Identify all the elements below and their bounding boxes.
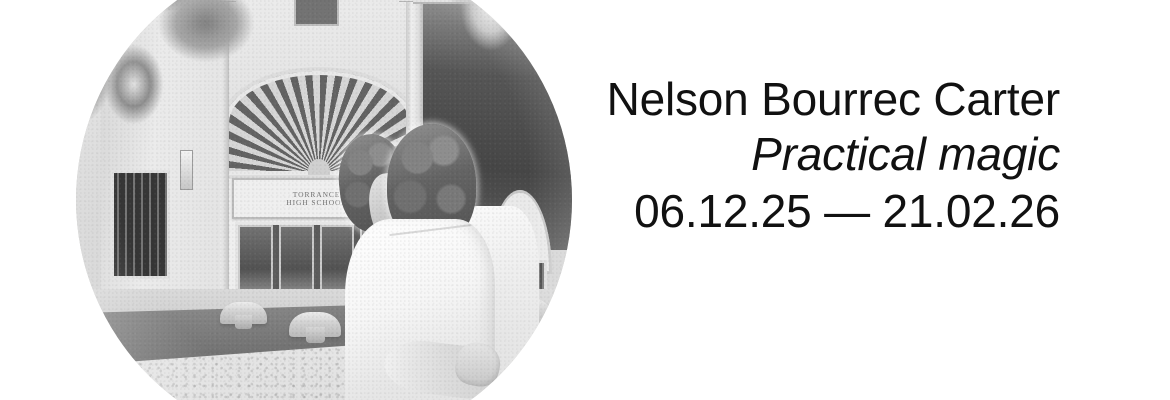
tree-foliage-right (403, 0, 572, 140)
tree-foliage-left (76, 0, 304, 190)
tree-branch (76, 7, 108, 14)
exhibition-title: Practical magic (607, 126, 1060, 184)
circular-exhibition-photo: TORRANCE HIGH SCHOOL (76, 0, 572, 400)
exhibition-announcement-banner: TORRANCE HIGH SCHOOL (0, 0, 1170, 400)
photo-content: TORRANCE HIGH SCHOOL (76, 0, 572, 400)
exhibition-dates: 06.12.25 — 21.02.26 (607, 183, 1060, 241)
concrete-bench (220, 302, 267, 325)
embracing-figures (334, 121, 572, 400)
artist-name: Nelson Bourrec Carter (607, 74, 1060, 126)
fanlight-hub (308, 159, 331, 176)
exhibition-text-block: Nelson Bourrec Carter Practical magic 06… (607, 74, 1060, 241)
